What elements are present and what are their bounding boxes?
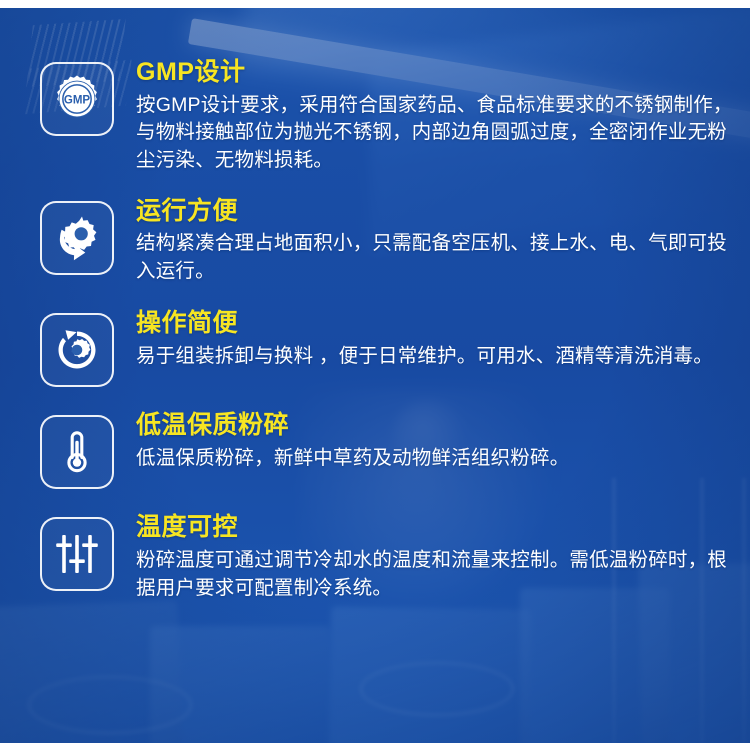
feature-text-block: 操作简便 易于组装拆卸与换料 ，便于日常维护。可用水、酒精等清洗消毒。 <box>136 307 742 370</box>
feature-item-gmp: GMP GMP设计 按GMP设计要求，采用符合国家药品、食品标准要求的不锈钢制作… <box>40 56 742 175</box>
gear-arrow-icon <box>40 201 114 275</box>
gmp-icon-label: GMP <box>64 95 91 107</box>
feature-text-block: 低温保质粉碎 低温保质粉碎，新鲜中草药及动物鲜活组织粉碎。 <box>136 409 742 472</box>
feature-description: 按GMP设计要求，采用符合国家药品、食品标准要求的不锈钢制作，与物料接触部位为抛… <box>136 92 742 175</box>
feature-text-block: 温度可控 粉碎温度可通过调节冷却水的温度和流量来控制。需低温粉碎时，根据用户要求… <box>136 511 742 602</box>
feature-list: GMP GMP设计 按GMP设计要求，采用符合国家药品、食品标准要求的不锈钢制作… <box>0 8 750 620</box>
feature-item-simple-maintenance: 操作简便 易于组装拆卸与换料 ，便于日常维护。可用水、酒精等清洗消毒。 <box>40 307 742 387</box>
feature-item-low-temperature: 低温保质粉碎 低温保质粉碎，新鲜中草药及动物鲜活组织粉碎。 <box>40 409 742 489</box>
feature-description: 低温保质粉碎，新鲜中草药及动物鲜活组织粉碎。 <box>136 445 742 473</box>
gmp-badge-icon: GMP <box>40 62 114 136</box>
feature-text-block: GMP设计 按GMP设计要求，采用符合国家药品、食品标准要求的不锈钢制作，与物料… <box>136 56 742 175</box>
product-feature-banner: GMP GMP设计 按GMP设计要求，采用符合国家药品、食品标准要求的不锈钢制作… <box>0 0 750 751</box>
feature-item-easy-operation: 运行方便 结构紧凑合理占地面积小，只需配备空压机、接上水、电、气即可投入运行。 <box>40 195 742 286</box>
feature-title: GMP设计 <box>136 58 742 88</box>
feature-description: 易于组装拆卸与换料 ，便于日常维护。可用水、酒精等清洗消毒。 <box>136 343 742 371</box>
feature-description: 结构紧凑合理占地面积小，只需配备空压机、接上水、电、气即可投入运行。 <box>136 230 742 285</box>
gear-refresh-icon <box>40 313 114 387</box>
feature-description: 粉碎温度可通过调节冷却水的温度和流量来控制。需低温粉碎时，根据用户要求可配置制冷… <box>136 547 742 602</box>
feature-text-block: 运行方便 结构紧凑合理占地面积小，只需配备空压机、接上水、电、气即可投入运行。 <box>136 195 742 286</box>
feature-item-temperature-control: 温度可控 粉碎温度可通过调节冷却水的温度和流量来控制。需低温粉碎时，根据用户要求… <box>40 511 742 602</box>
feature-title: 温度可控 <box>136 513 742 543</box>
thermometer-icon <box>40 415 114 489</box>
sliders-icon <box>40 517 114 591</box>
feature-title: 操作简便 <box>136 309 742 339</box>
feature-title: 低温保质粉碎 <box>136 411 742 441</box>
feature-title: 运行方便 <box>136 197 742 227</box>
